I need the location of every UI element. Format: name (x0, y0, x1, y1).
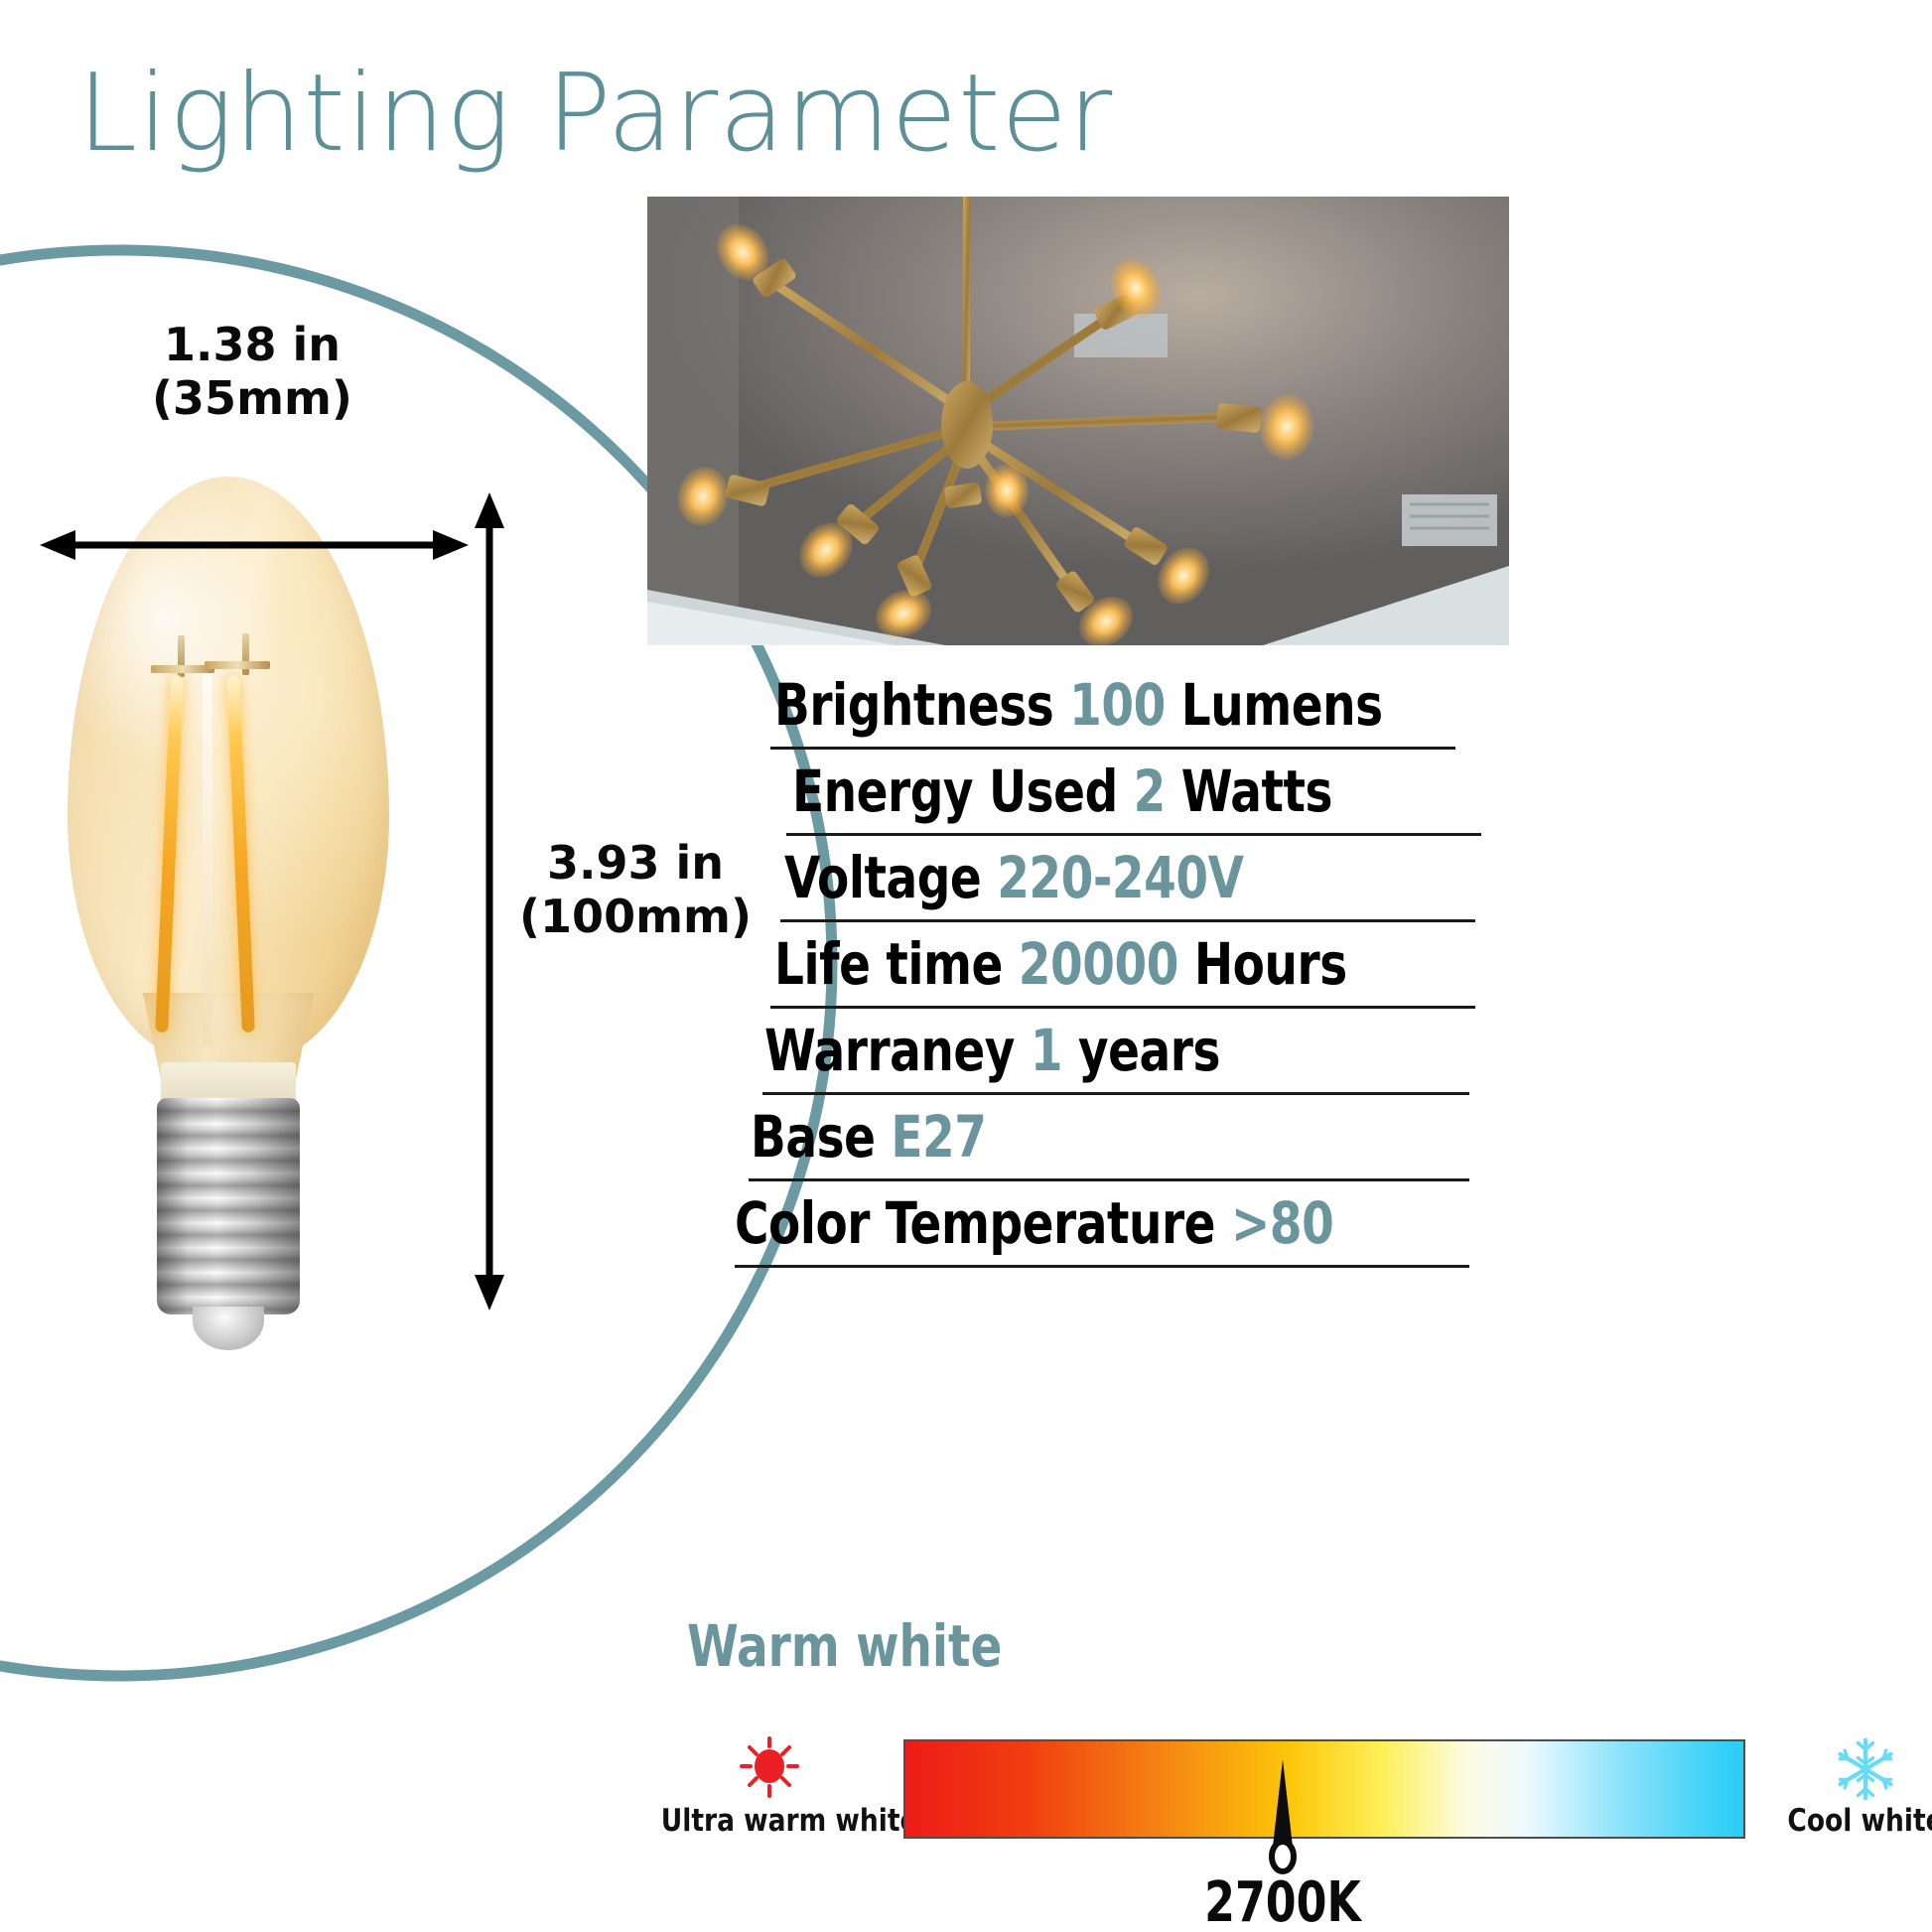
snowflake-icon (1751, 1735, 1932, 1803)
spec-unit-life-time: Hours (1194, 930, 1347, 998)
spec-label-voltage: Voltage (784, 844, 981, 911)
bulb-glass (68, 477, 389, 1062)
cct-right-label: Cool white (1757, 1803, 1932, 1839)
specification-list: Brightness 100 Lumens Energy Used 2 Watt… (735, 663, 1499, 1268)
spec-value-voltage: 220-240V (997, 844, 1243, 911)
bulb-base-tip (193, 1307, 264, 1350)
spec-row-voltage: Voltage 220-240V (735, 836, 1499, 919)
width-dimension-label: 1.38 in (35mm) (103, 318, 401, 426)
spec-row-warranty: Warraney 1 years (735, 1009, 1499, 1092)
warm-white-label: Warm white (687, 1612, 1002, 1680)
spec-label-base: Base (751, 1103, 875, 1171)
spec-row-base: Base E27 (735, 1095, 1499, 1178)
spec-label-color-temperature: Color Temperature (735, 1189, 1215, 1257)
spec-label-brightness: Brightness (774, 671, 1053, 739)
spec-label-energy-used: Energy Used (792, 758, 1118, 825)
cct-marker-value: 2700K (1168, 1870, 1398, 1932)
spec-label-life-time: Life time (774, 930, 1003, 998)
spec-divider (735, 1265, 1469, 1268)
spec-row-brightness: Brightness 100 Lumens (735, 663, 1499, 747)
page-title: Lighting Parameter (77, 52, 1113, 176)
spec-value-life-time: 20000 (1019, 930, 1178, 998)
spec-unit-brightness: Lumens (1181, 671, 1383, 739)
spec-value-energy-used: 2 (1134, 758, 1166, 825)
width-dimension-arrow-icon (40, 528, 469, 562)
height-dimension-label: 3.93 in (100mm) (496, 836, 774, 944)
spec-value-base: E27 (891, 1103, 986, 1171)
spec-value-warranty: 1 (1031, 1017, 1062, 1084)
cct-right-end: Cool white (1751, 1735, 1932, 1839)
spec-label-warranty: Warraney (764, 1017, 1015, 1084)
bulb-e27-screw-base (157, 1098, 300, 1314)
spec-unit-warranty: years (1078, 1017, 1220, 1084)
spec-value-brightness: 100 (1069, 671, 1166, 739)
bulb-product-image (40, 477, 417, 1350)
spec-unit-energy-used: Watts (1181, 758, 1332, 825)
sun-icon (655, 1735, 884, 1803)
cct-marker-pin-icon (1263, 1757, 1303, 1884)
cct-gradient-bar (903, 1739, 1745, 1839)
bulb-crossbar-right (205, 661, 270, 669)
spec-row-energy-used: Energy Used 2 Watts (735, 750, 1499, 833)
cct-left-label: Ultra warm white (661, 1803, 879, 1839)
bulb-stem (203, 671, 212, 1046)
cct-left-end: Ultra warm white (655, 1735, 884, 1839)
spec-row-color-temperature: Color Temperature >80 (735, 1181, 1499, 1265)
spec-row-life-time: Life time 20000 Hours (735, 922, 1499, 1006)
color-temperature-scale: Ultra warm white 2700K (655, 1739, 1892, 1918)
chandelier-scene-image (647, 197, 1509, 645)
height-dimension-arrow-icon (473, 492, 506, 1311)
infographic-page: Lighting Parameter 1.38 in (35mm) 3.93 i… (0, 0, 1932, 1932)
spec-value-color-temperature: >80 (1231, 1189, 1333, 1257)
